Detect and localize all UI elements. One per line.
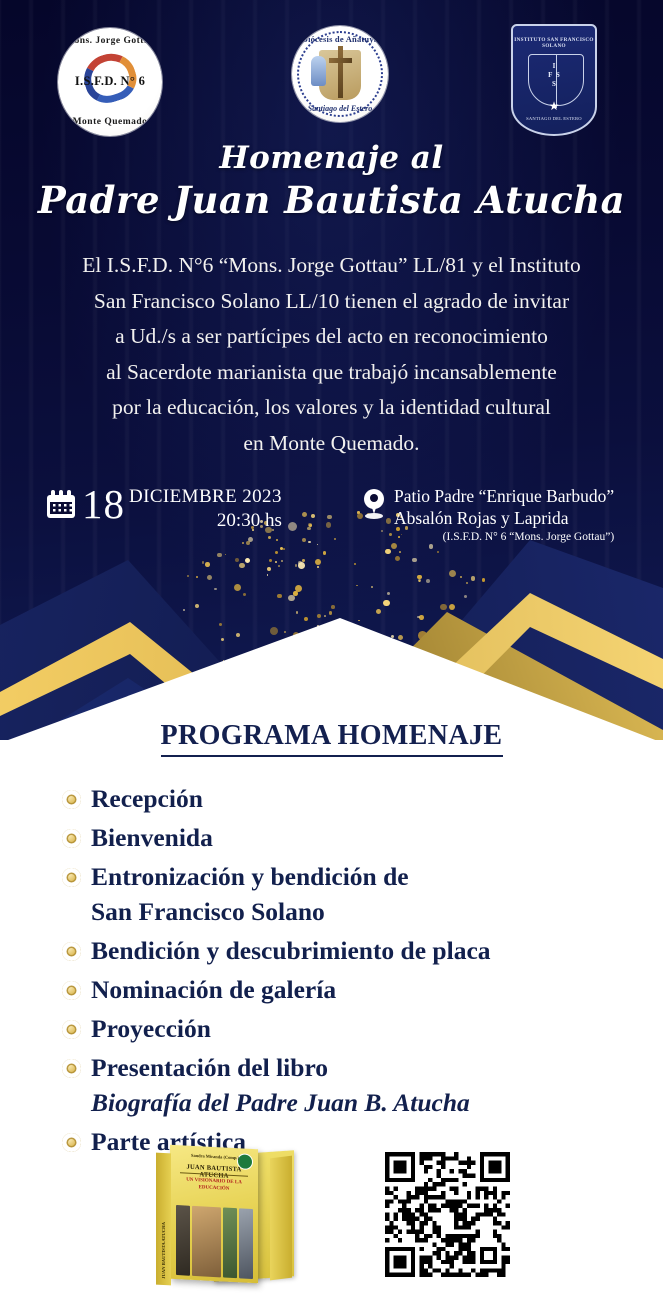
program-item: Presentación del libroBiografía del Padr…	[62, 1050, 663, 1120]
sparkle-dot	[387, 592, 390, 595]
sparkle-dot	[358, 620, 360, 622]
sparkle-dot	[234, 584, 241, 591]
diocese-arc-bottom: Santiago del Estero	[292, 104, 388, 113]
sparkle-dot	[219, 623, 222, 626]
isfd-arc-bottom: Monte Quemado	[58, 117, 162, 127]
sparkle-dot	[196, 576, 198, 578]
sparkle-dot	[277, 594, 281, 598]
sparkle-dot	[187, 575, 189, 577]
sparkle-dot	[317, 614, 321, 618]
gold-ring-bullet-icon	[62, 1133, 81, 1152]
sparkle-dot	[317, 566, 319, 568]
place-address: Absalón Rojas y Laprida	[394, 508, 614, 529]
sparkle-dot	[449, 604, 456, 611]
program-item-label: Presentación del libro	[91, 1053, 328, 1082]
program-item-text: Recepción	[91, 781, 203, 816]
sparkle-dot	[440, 604, 447, 611]
sparkle-dot	[221, 638, 224, 641]
program-section: PROGRAMA HOMENAJE RecepciónBienvenidaEnt…	[0, 720, 663, 1163]
program-item-text: Entronización y bendición deSan Francisc…	[91, 859, 409, 929]
sparkle-dot	[391, 635, 394, 638]
book-cover-image: Sandra Miranda (Comp.) JUAN BAUTISTA ATU…	[152, 1143, 300, 1286]
diocese-cross-icon	[338, 46, 343, 98]
sparkle-dot	[419, 615, 424, 620]
body-line: en Monte Quemado.	[0, 426, 663, 462]
gold-ring-bullet-icon	[62, 942, 81, 961]
institute-monogram: IF SS	[513, 62, 595, 89]
sparkle-dot	[214, 588, 217, 591]
sparkle-dot	[331, 605, 335, 609]
program-heading: PROGRAMA HOMENAJE	[160, 720, 502, 757]
program-item: Bienvenida	[62, 820, 663, 855]
program-item-label: Bienvenida	[91, 823, 213, 852]
program-item-text: Proyección	[91, 1011, 211, 1046]
program-item-text: Nominación de galería	[91, 972, 336, 1007]
sparkle-dot	[183, 609, 185, 611]
event-month-year: DICIEMBRE 2023	[129, 486, 282, 508]
logo-instituto-san-francisco-solano: INSTITUTO SAN FRANCISCO SOLANO IF SS ★ S…	[511, 24, 597, 136]
diocese-virgin-icon	[311, 56, 326, 86]
sparkle-dot	[270, 627, 278, 635]
sparkle-dot	[267, 567, 271, 571]
sparkle-dot	[324, 615, 326, 617]
sparkle-dot	[482, 578, 486, 582]
sparkle-dot	[267, 574, 269, 576]
isfd-center-text: I.S.F.D. N° 6	[58, 74, 162, 89]
program-item: Proyección	[62, 1011, 663, 1046]
invitation-body: El I.S.F.D. N°6 “Mons. Jorge Gottau” LL/…	[0, 248, 663, 461]
book-subtitle: UN VISIONARIO DE LA EDUCACIÓN	[178, 1176, 250, 1194]
sparkle-dot	[466, 582, 468, 584]
event-day: 18	[82, 484, 125, 524]
body-line: San Francisco Solano LL/10 tienen el agr…	[0, 284, 663, 320]
institute-star-icon: ★	[549, 100, 560, 112]
gold-ring-bullet-icon	[62, 868, 81, 887]
sparkle-dot	[236, 633, 241, 638]
sparkle-dot	[449, 570, 457, 578]
gold-ring-bullet-icon	[62, 829, 81, 848]
body-line: a Ud./s a ser partícipes del acto en rec…	[0, 319, 663, 355]
body-line: al Sacerdote marianista que trabajó inca…	[0, 355, 663, 391]
sparkle-dot	[376, 609, 382, 615]
event-date-block: 18 DICIEMBRE 2023 20:30 hs	[47, 484, 282, 532]
sparkle-dot	[371, 586, 373, 588]
logo-diocesis-anatuya: Diócesis de Añatuya Santiago del Estero	[292, 26, 388, 122]
program-item-label: Nominación de galería	[91, 975, 336, 1004]
place-note: (I.S.F.D. N° 6 “Mons. Jorge Gottau”)	[394, 531, 614, 543]
sparkle-dot	[471, 576, 476, 581]
event-place-block: Patio Padre “Enrique Barbudo” Absalón Ro…	[362, 486, 614, 543]
program-item-label: Entronización y bendición de	[91, 862, 409, 891]
sparkle-dot	[383, 600, 390, 607]
sparkle-dot	[243, 593, 247, 597]
sparkle-dot	[329, 611, 333, 615]
sparkle-dot	[293, 591, 298, 596]
sparkle-dot	[398, 635, 403, 640]
institute-arc-top: INSTITUTO SAN FRANCISCO SOLANO	[513, 37, 595, 49]
body-line: El I.S.F.D. N°6 “Mons. Jorge Gottau” LL/…	[0, 248, 663, 284]
place-venue: Patio Padre “Enrique Barbudo”	[394, 486, 614, 507]
program-item-label: Bendición y descubrimiento de placa	[91, 936, 491, 965]
program-item-text: Bienvenida	[91, 820, 213, 855]
sparkle-dot	[284, 631, 286, 633]
event-time: 20:30 hs	[129, 510, 282, 532]
logo-row: “Mons. Jorge Gottau” I.S.F.D. N° 6 Monte…	[0, 24, 663, 136]
title-line-2: Padre Juan Bautista Atucha	[0, 178, 663, 222]
sparkle-dot	[460, 576, 462, 578]
program-item-text: Presentación del libroBiografía del Padr…	[91, 1050, 470, 1120]
program-item-text: Bendición y descubrimiento de placa	[91, 933, 491, 968]
gold-ring-bullet-icon	[62, 981, 81, 1000]
qr-code[interactable]	[385, 1152, 510, 1277]
diocese-arc-top: Diócesis de Añatuya	[292, 34, 388, 44]
logo-isfd-n6: “Mons. Jorge Gottau” I.S.F.D. N° 6 Monte…	[58, 28, 162, 136]
book-spine-text: JUAN BAUTISTA ATUCHA	[161, 1222, 166, 1279]
title-line-1: Homenaje al	[0, 140, 663, 176]
gold-ring-bullet-icon	[62, 1020, 81, 1039]
sparkle-dot	[426, 579, 430, 583]
body-line: por la educación, los valores y la ident…	[0, 390, 663, 426]
event-details: 18 DICIEMBRE 2023 20:30 hs Patio Padre “…	[0, 484, 663, 564]
sparkle-dot	[296, 611, 299, 614]
gold-ring-bullet-icon	[62, 790, 81, 809]
gold-ring-bullet-icon	[62, 1059, 81, 1078]
sparkle-dot	[464, 595, 467, 598]
program-item: Nominación de galería	[62, 972, 663, 1007]
sparkle-dot	[207, 575, 212, 580]
sparkle-dot	[356, 585, 358, 587]
program-item: Entronización y bendición deSan Francisc…	[62, 859, 663, 929]
program-list: RecepciónBienvenidaEntronización y bendi…	[0, 781, 663, 1159]
isfd-arc-top: “Mons. Jorge Gottau”	[58, 36, 162, 46]
poster-title: Homenaje al Padre Juan Bautista Atucha	[0, 140, 663, 222]
program-item: Recepción	[62, 781, 663, 816]
calendar-icon	[47, 490, 75, 518]
sparkle-dot	[278, 565, 280, 567]
program-item-subline: San Francisco Solano	[91, 894, 409, 929]
invitation-poster: “Mons. Jorge Gottau” I.S.F.D. N° 6 Monte…	[0, 0, 663, 1299]
program-item-subline: Biografía del Padre Juan B. Atucha	[91, 1085, 470, 1120]
sparkle-dot	[195, 604, 199, 608]
institute-arc-bottom: SANTIAGO DEL ESTERO	[513, 116, 595, 121]
sparkle-dot	[295, 564, 298, 567]
location-pin-icon	[362, 489, 386, 521]
program-item-label: Recepción	[91, 784, 203, 813]
program-item-label: Proyección	[91, 1014, 211, 1043]
program-item: Bendición y descubrimiento de placa	[62, 933, 663, 968]
sparkle-dot	[304, 617, 308, 621]
